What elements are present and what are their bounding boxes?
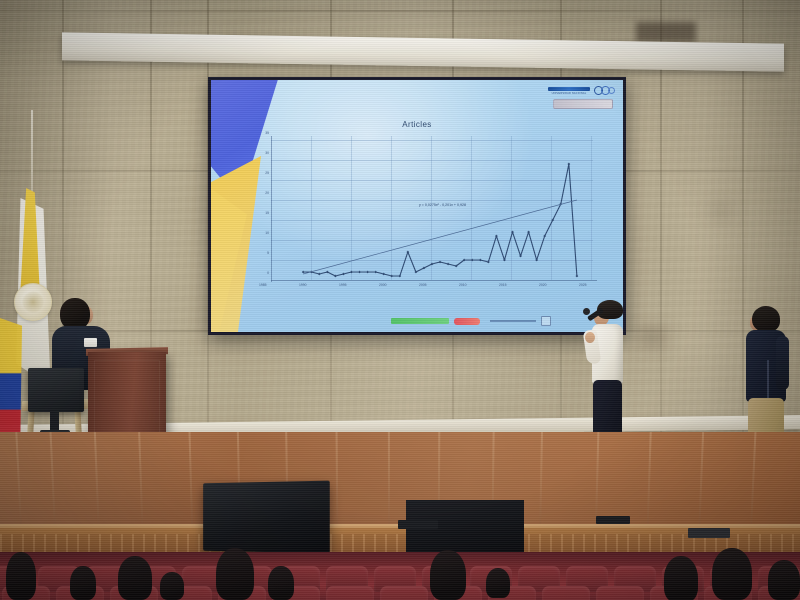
footer-green-bar [391,318,449,324]
footer-logo-box [541,316,551,326]
audience-seat [596,586,644,600]
auditorium-scene: UNIVERSIDAD NACIONAL Articles [0,0,800,600]
presenter-hand [585,332,595,343]
audience-head [216,548,254,600]
chart-series-svg [271,140,601,285]
chart-y-tick-labels: 0 5 10 15 20 25 30 35 [255,135,269,275]
audience-head [712,548,752,600]
audience-head [430,550,466,600]
chart-title: Articles [211,120,623,129]
colombian-flag [0,318,22,448]
floor-object [688,528,730,538]
audience-seat [380,586,428,600]
audience-head [768,560,800,600]
logo-bar [548,87,590,91]
floor-object [596,516,630,524]
co-presenter-arm [776,336,789,390]
audience-head [70,566,96,600]
logo-subtitle: UNIVERSIDAD NACIONAL [552,92,587,95]
wall-seam [660,0,662,470]
monitor-stand [50,410,59,432]
projection-screen: UNIVERSIDAD NACIONAL Articles [208,77,626,335]
audience-seat [326,586,374,600]
wall-seam [0,10,800,12]
audience-head [6,552,36,600]
moderator-badge [84,338,97,347]
audience-head [268,566,294,600]
wall-stain [640,330,666,344]
rings-emblem-icon [594,86,615,95]
logo-wordmark: UNIVERSIDAD NACIONAL [548,87,590,95]
floor-television[interactable] [203,481,330,554]
co-presenter-hair [752,306,780,332]
slide-logo-pill [553,99,613,109]
microphone-head [583,308,590,315]
floor-object [398,520,438,529]
projected-slide: UNIVERSIDAD NACIONAL Articles [211,80,623,332]
chart-x-tick-labels: 1985 1990 1995 2000 2005 2010 2015 2020 … [259,284,603,294]
audience-head [486,568,510,598]
audience-head [664,556,698,600]
footer-red-badge [454,318,480,325]
university-emblem-icon [14,283,52,321]
audience-head [118,556,152,600]
audience-seat [542,586,590,600]
slide-logo: UNIVERSIDAD NACIONAL [548,86,615,95]
footer-line [490,320,536,322]
beam-shadow [636,22,696,42]
chart-plot-area: 0 5 10 15 20 25 30 35 1985 1990 1995 200… [271,140,591,280]
wall-stain [712,206,730,216]
computer-monitor[interactable] [28,368,84,412]
audience-head [160,572,184,600]
